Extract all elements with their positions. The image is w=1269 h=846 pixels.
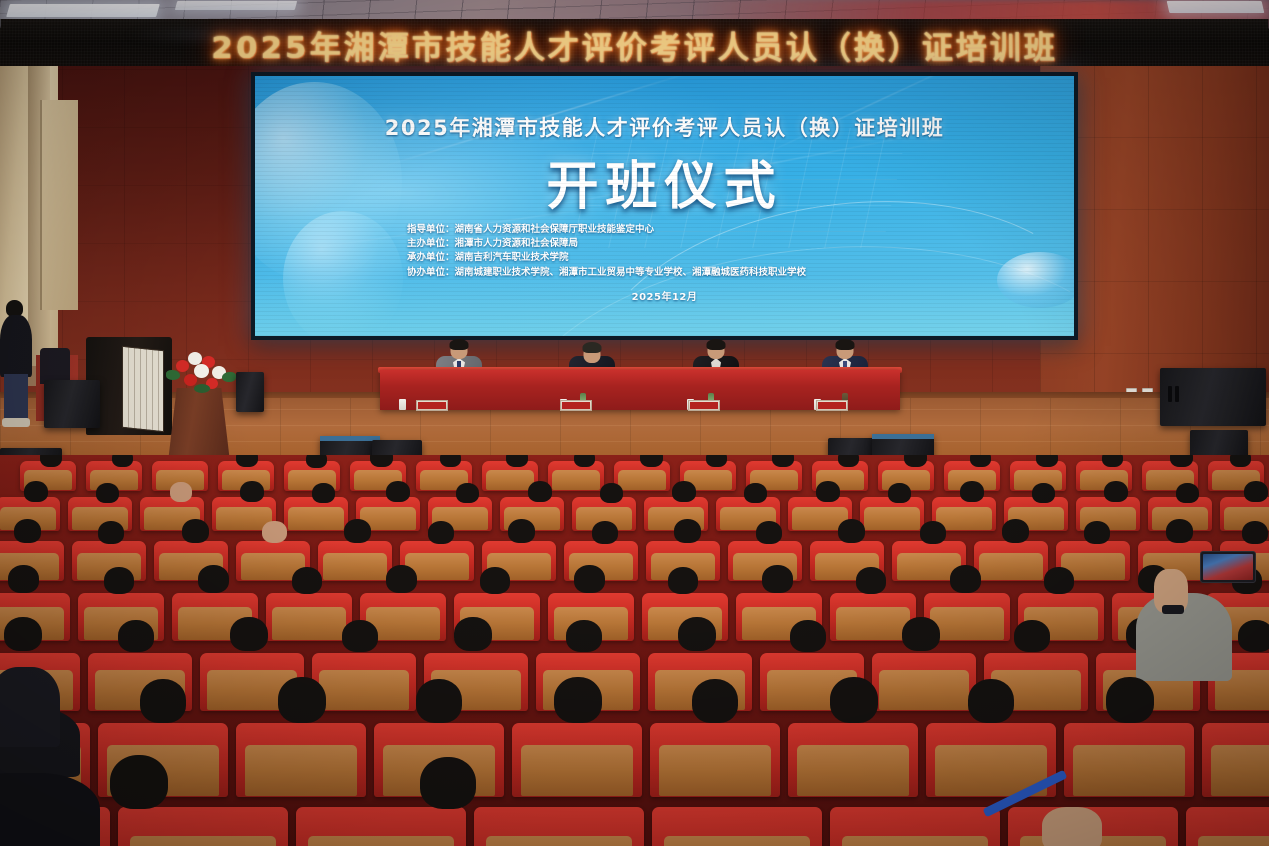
audience-head <box>674 519 701 543</box>
audience-seat[interactable] <box>474 807 644 846</box>
audience-head <box>370 455 393 467</box>
flower-leaf <box>166 370 180 380</box>
audience-head <box>236 455 258 467</box>
monitor-top-edge <box>872 434 934 439</box>
audience-head <box>692 679 738 723</box>
audience-head <box>968 679 1014 723</box>
audience-seat[interactable] <box>296 807 466 846</box>
audience-head <box>8 565 39 593</box>
flower-leaf <box>194 384 210 393</box>
name-card-face <box>562 402 590 409</box>
official-hair <box>836 339 855 350</box>
audience-head <box>762 565 793 593</box>
audience-head <box>14 519 41 543</box>
audience-head <box>140 679 186 723</box>
audience-head <box>566 620 602 652</box>
audience-head <box>386 481 410 502</box>
pa-speaker <box>44 380 100 428</box>
ceiling-light-panel <box>6 4 160 17</box>
audience-seat[interactable] <box>236 723 366 797</box>
audience-head <box>672 481 696 502</box>
seat-back <box>864 507 919 530</box>
audience-head <box>1032 483 1055 503</box>
person-shoes <box>2 418 30 427</box>
audience-head <box>118 620 154 652</box>
audience-head <box>104 567 134 594</box>
audience-head <box>98 521 124 544</box>
audience-head <box>1230 455 1251 467</box>
flower-petal <box>194 364 209 378</box>
audience-head <box>198 565 229 593</box>
audience-seat[interactable] <box>872 653 976 711</box>
audience-seat[interactable] <box>650 723 780 797</box>
audience-seat[interactable] <box>1202 723 1269 797</box>
seat-back <box>552 470 600 490</box>
audience-seat[interactable] <box>614 461 670 491</box>
audience-seat[interactable] <box>830 807 1000 846</box>
audience-head <box>428 521 454 544</box>
audience-head <box>528 481 552 502</box>
audience-head <box>902 617 940 651</box>
flower-petal <box>184 374 197 386</box>
pa-speaker <box>236 372 264 412</box>
audience-head <box>554 677 602 723</box>
audience-head <box>856 567 886 594</box>
seat-back <box>272 607 346 640</box>
audience-head <box>1244 481 1268 502</box>
audience-head <box>278 677 326 723</box>
audience-seat[interactable] <box>652 807 822 846</box>
audience-head <box>112 455 133 467</box>
audience-head <box>110 755 168 809</box>
name-card <box>816 400 848 411</box>
audience-head <box>170 482 192 502</box>
audience-head <box>904 455 927 467</box>
pa-speaker <box>1160 368 1266 426</box>
seat-back <box>930 607 1004 640</box>
audience-head <box>592 521 618 544</box>
audience-seat[interactable] <box>974 541 1048 581</box>
seat-back <box>245 745 357 795</box>
stage-side-chair-back <box>40 348 70 384</box>
seat-back <box>130 836 276 846</box>
led-banner: 2025年湘潭市技能人才评价考评人员认（换）证培训班 <box>0 19 1269 71</box>
slide-title: 2025年湘潭市技能人才评价考评人员认（换）证培训班 <box>255 112 1074 142</box>
audience-head <box>40 455 62 467</box>
audience-head <box>1170 455 1193 467</box>
seat-back <box>288 507 343 530</box>
audience-head <box>230 617 268 651</box>
audience-hand <box>1042 807 1102 846</box>
audience-head <box>96 483 119 503</box>
smartphone[interactable] <box>1200 551 1256 583</box>
seat-back <box>323 553 387 580</box>
seat-back <box>1073 745 1185 795</box>
audience-head <box>790 620 826 652</box>
audience-head <box>744 483 767 503</box>
audience-head <box>574 565 605 593</box>
seat-back <box>486 470 534 490</box>
audience-phone-camera <box>1146 531 1269 681</box>
piano-keyboard <box>122 346 164 432</box>
audience-head <box>772 455 794 467</box>
podium <box>168 388 230 462</box>
organization-line: 指导单位：湖南省人力资源和社会保障厅职业技能鉴定中心 <box>407 223 1047 236</box>
seat-back <box>797 745 909 795</box>
official-hair <box>707 339 726 350</box>
audience-head <box>24 481 48 502</box>
seat-back <box>1198 836 1269 846</box>
official-hair <box>583 342 602 353</box>
name-card <box>560 400 592 411</box>
audience-head <box>1002 519 1029 543</box>
seat-back <box>659 745 771 795</box>
head-table <box>380 370 900 410</box>
slide-organization-list: 指导单位：湖南省人力资源和社会保障厅职业技能鉴定中心 主办单位：湘潭市人力资源和… <box>407 223 1047 280</box>
audience-head <box>1104 481 1128 502</box>
name-card-face <box>418 402 446 409</box>
audience-head <box>1036 455 1058 467</box>
audience-head <box>830 677 878 723</box>
audience-head <box>240 481 264 502</box>
audience-shoulders <box>0 667 60 747</box>
audience-head <box>756 521 782 544</box>
audience-seat[interactable] <box>548 461 604 491</box>
led-banner-text: 2025年湘潭市技能人才评价考评人员认（换）证培训班 <box>0 21 1269 66</box>
audience-head <box>312 483 335 503</box>
audience-head <box>1176 483 1199 503</box>
seat-back <box>319 670 408 709</box>
flower-leaf <box>222 372 236 382</box>
seat-back <box>308 836 454 846</box>
audience-seat[interactable] <box>318 541 392 581</box>
organization-line: 承办单位：湖南吉利汽车职业技术学院 <box>407 251 1047 264</box>
slide-heading: 开班仪式 <box>255 144 1074 219</box>
projection-screen-surface: 2025年湘潭市技能人才评价考评人员认（换）证培训班 开班仪式 指导单位：湖南省… <box>255 76 1074 336</box>
monitor-top-edge <box>320 436 380 441</box>
audience-head <box>344 519 371 543</box>
ceiling-light-panel <box>1167 1 1265 13</box>
audience-head <box>342 620 378 652</box>
audience-head <box>960 481 984 502</box>
audience-head <box>386 565 417 593</box>
audience-head <box>292 567 322 594</box>
seat-back <box>486 836 632 846</box>
audience-head <box>508 519 535 543</box>
seat-back <box>879 670 968 709</box>
audience-head <box>1106 677 1154 723</box>
audience-head <box>306 455 327 468</box>
seat-back <box>521 745 633 795</box>
audience-seating <box>0 455 1269 846</box>
organization-line: 主办单位：湘潭市人力资源和社会保障局 <box>407 237 1047 250</box>
audience-head <box>668 567 698 594</box>
speaker-port <box>1175 386 1179 402</box>
speaker-port <box>1168 386 1172 402</box>
name-card <box>688 400 720 411</box>
audience-head <box>416 679 462 723</box>
audience-seat[interactable] <box>512 723 642 797</box>
audience-head <box>480 567 510 594</box>
wristwatch <box>1162 605 1184 614</box>
name-card-face <box>690 402 718 409</box>
official-hair <box>450 339 469 350</box>
flower-petal <box>176 360 189 372</box>
audience-head <box>920 521 946 544</box>
seat-back <box>664 836 810 846</box>
audience-seat[interactable] <box>1064 723 1194 797</box>
audience-head <box>888 483 911 503</box>
ceiling-light-panel <box>175 1 297 10</box>
water-cup <box>399 399 406 410</box>
auditorium-scene: 2025年湘潭市技能人才评价考评人员认（换）证培训班 2025年湘潭市技能人才评… <box>0 0 1269 846</box>
audience-head <box>454 617 492 651</box>
audience-head <box>182 519 209 543</box>
name-card <box>416 400 448 411</box>
audience-seat[interactable] <box>312 653 416 711</box>
audience-head <box>262 521 287 543</box>
audience-head <box>420 757 476 809</box>
seat-back <box>979 553 1043 580</box>
audience-head <box>440 455 461 467</box>
seat-back <box>1211 745 1269 795</box>
audience-head <box>456 483 479 503</box>
audience-head <box>970 455 991 467</box>
seat-back <box>618 470 666 490</box>
audience-head <box>506 455 528 467</box>
decorative-teal-fan <box>375 272 605 336</box>
audience-head <box>4 617 42 651</box>
audience-seat[interactable] <box>788 723 918 797</box>
name-card-face <box>818 402 846 409</box>
audience-head <box>838 519 865 543</box>
left-door[interactable] <box>40 100 78 310</box>
standing-person <box>0 300 34 432</box>
audience-seat[interactable] <box>266 593 352 641</box>
audience-head <box>640 455 663 467</box>
flower-arrangement <box>164 348 238 396</box>
audience-head <box>600 483 623 503</box>
organization-line: 协办单位：湖南城建职业技术学院、湘潭市工业贸易中等专业学校、湘潭融城医药科技职业… <box>407 266 1047 279</box>
seat-back <box>842 836 988 846</box>
audience-head <box>1044 567 1074 594</box>
audience-head <box>678 617 716 651</box>
audience-seat[interactable] <box>118 807 288 846</box>
audience-seat[interactable] <box>1186 807 1269 846</box>
audience-head <box>838 455 859 467</box>
smartphone-screen <box>1203 554 1253 580</box>
audience-head <box>816 481 840 502</box>
person-torso <box>0 315 32 377</box>
projection-screen: 2025年湘潭市技能人才评价考评人员认（换）证培训班 开班仪式 指导单位：湖南省… <box>251 72 1078 340</box>
seat-back <box>836 607 910 640</box>
audience-head <box>1084 521 1110 544</box>
slide-date: 2025年12月 <box>255 288 1074 303</box>
audience-head <box>950 565 981 593</box>
audience-head <box>1102 455 1123 467</box>
audience-head <box>574 455 595 467</box>
audience-head <box>1014 620 1050 652</box>
audience-head <box>706 455 727 467</box>
person-legs <box>4 374 28 420</box>
